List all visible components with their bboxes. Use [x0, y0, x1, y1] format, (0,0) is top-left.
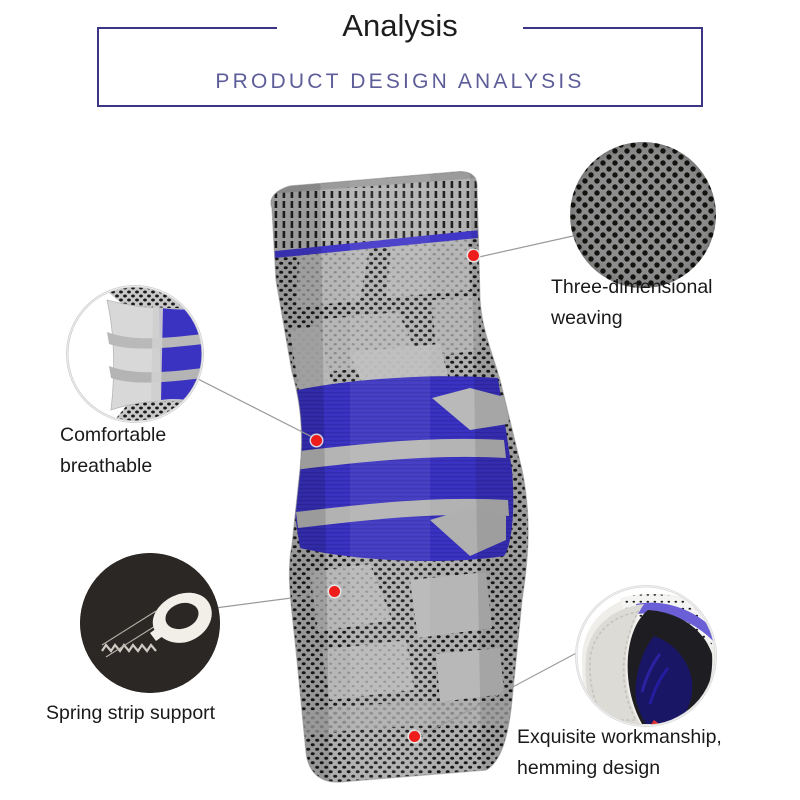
hemming-detail-art — [576, 586, 716, 726]
callout-circle-hemming[interactable] — [575, 585, 717, 727]
callout-label-hemming: Exquisite workmanship, hemming design — [517, 722, 787, 784]
callout-label-breathable: Comfortable breathable — [60, 420, 270, 482]
callout-circle-breathable[interactable] — [66, 285, 204, 423]
marker-dot-spring[interactable] — [329, 586, 340, 597]
callout-label-spring: Spring strip support — [46, 698, 296, 729]
breathable-detail-art — [67, 286, 203, 422]
marker-dot-hemming[interactable] — [409, 731, 420, 742]
callout-label-weaving: Three-dimensional weaving — [551, 272, 781, 334]
marker-dot-breathable[interactable] — [311, 435, 322, 446]
spring-strip-art — [80, 553, 220, 693]
callout-circle-weaving[interactable] — [570, 142, 716, 288]
product-analysis-infographic: Analysis PRODUCT DESIGN ANALYSIS — [0, 0, 800, 800]
callout-circle-spring[interactable] — [80, 553, 220, 693]
marker-dot-weaving[interactable] — [468, 250, 479, 261]
